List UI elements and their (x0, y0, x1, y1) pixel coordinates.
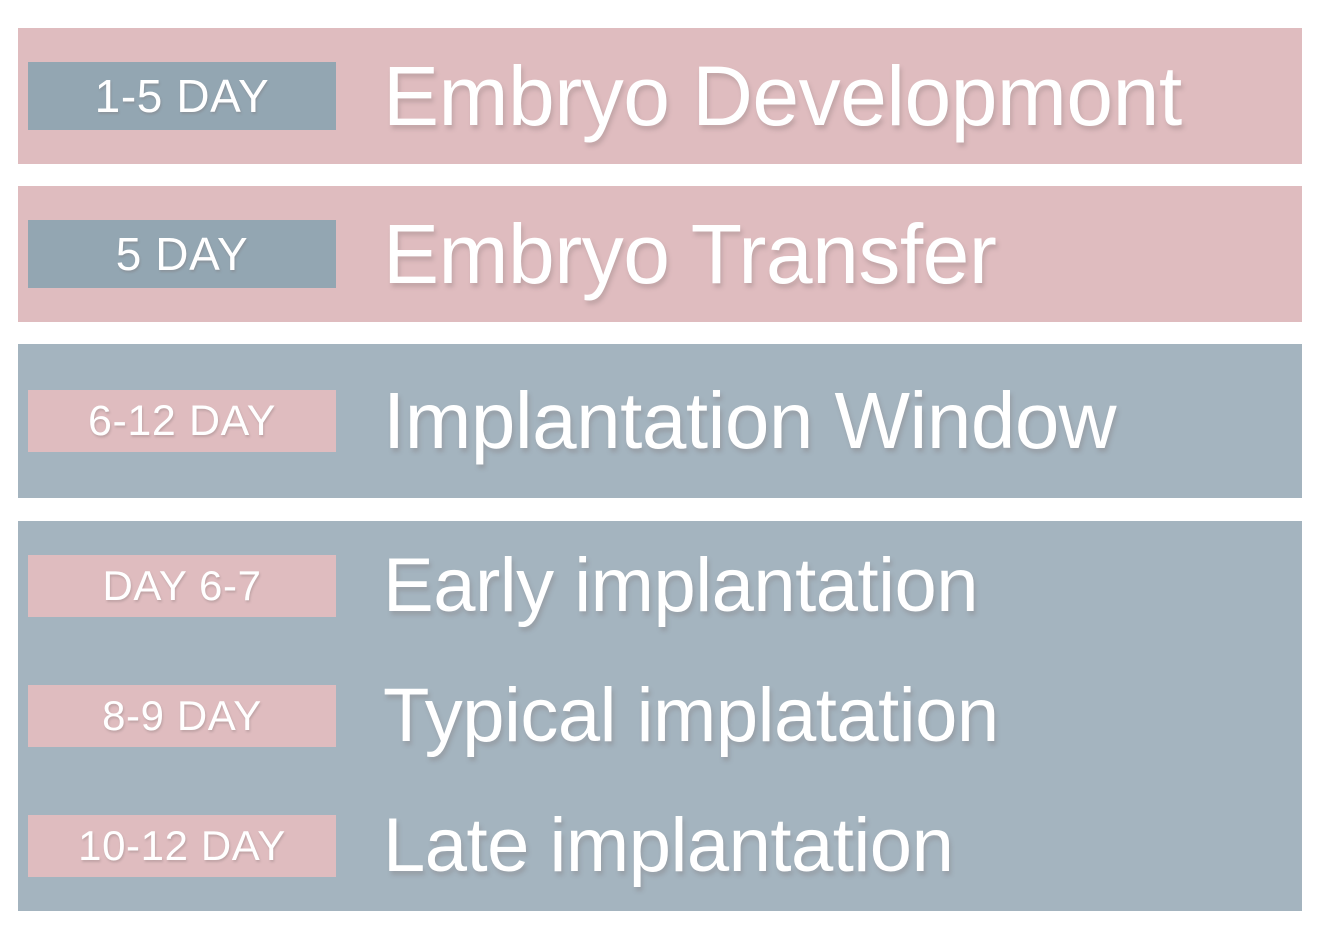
day-badge-8-9-day: 8-9 DAY (28, 685, 336, 747)
timeline-band-embryo-transfer: 5 DAY Embryo Transfer (18, 186, 1302, 322)
stage-title-early-implantation: Early implantation (383, 546, 1302, 626)
day-badge-10-12-day: 10-12 DAY (28, 815, 336, 877)
timeline-row: 6-12 DAY Implantation Window (18, 344, 1302, 498)
day-badge-6-12-day: 6-12 DAY (28, 390, 336, 452)
day-badge-5-day: 5 DAY (28, 220, 336, 288)
day-badge-1-5-day: 1-5 DAY (28, 62, 336, 130)
timeline-band-embryo-development: 1-5 DAY Embryo Developmont (18, 28, 1302, 164)
timeline-row: DAY 6-7 Early implantation (18, 521, 1302, 651)
stage-title-embryo-transfer: Embryo Transfer (383, 210, 1302, 298)
stage-title-typical-implantation: Typical implatation (383, 676, 1302, 756)
timeline-row: 10-12 DAY Late implantation (18, 781, 1302, 911)
stage-title-implantation-window: Implantation Window (383, 379, 1302, 463)
timeline-row: 1-5 DAY Embryo Developmont (18, 28, 1302, 164)
day-badge-day-6-7: DAY 6-7 (28, 555, 336, 617)
timeline-band-implantation-stages: DAY 6-7 Early implantation 8-9 DAY Typic… (18, 521, 1302, 911)
timeline-band-implantation-window: 6-12 DAY Implantation Window (18, 344, 1302, 498)
timeline-infographic: 1-5 DAY Embryo Developmont 5 DAY Embryo … (0, 0, 1320, 931)
stage-title-embryo-development: Embryo Developmont (383, 52, 1302, 140)
stage-title-late-implantation: Late implantation (383, 806, 1302, 886)
timeline-row: 8-9 DAY Typical implatation (18, 651, 1302, 781)
timeline-row: 5 DAY Embryo Transfer (18, 186, 1302, 322)
